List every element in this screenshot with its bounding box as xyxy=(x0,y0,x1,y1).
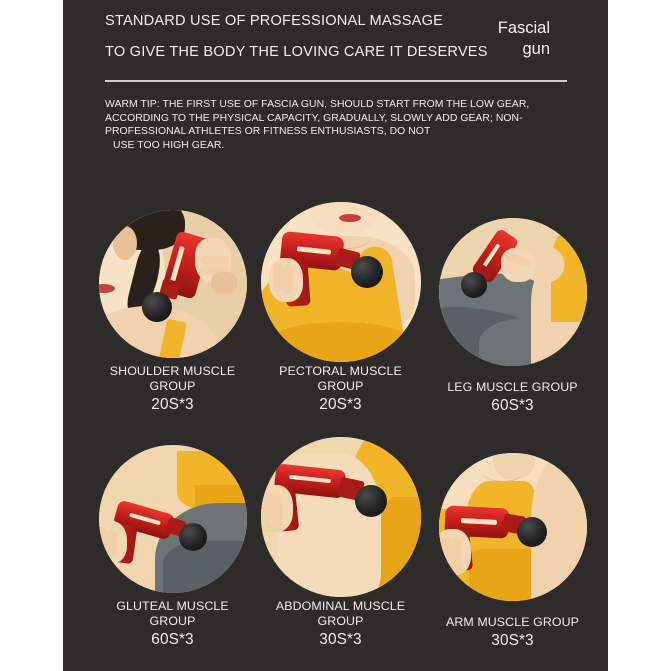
massage-gun-head-icon xyxy=(517,517,547,547)
brand-line-1: Fascial xyxy=(450,18,550,39)
muscle-group-tile-arm[interactable]: ARM MUSCLE GROUP 30S*3 xyxy=(425,431,600,651)
muscle-group-row-1: SHOULDER MUSCLE GROUP 20S*3 xyxy=(63,196,608,431)
header-divider xyxy=(105,80,567,82)
massage-gun-head-icon xyxy=(351,256,383,288)
caption-arm: ARM MUSCLE GROUP 30S*3 xyxy=(425,615,600,651)
muscle-group-tile-shoulder[interactable]: SHOULDER MUSCLE GROUP 20S*3 xyxy=(85,196,260,415)
muscle-group-name-line-2: GROUP xyxy=(85,379,260,394)
photo-pectoral-muscle xyxy=(261,202,421,362)
massage-gun-head-icon xyxy=(179,523,207,551)
muscle-group-duration: 20S*3 xyxy=(253,395,428,415)
muscle-group-name-line-1: GLUTEAL MUSCLE xyxy=(85,599,260,614)
photo-wrap-pectoral xyxy=(261,202,421,362)
warm-tip-text: WARM TIP: THE FIRST USE OF FASCIA GUN, S… xyxy=(105,98,560,152)
muscle-group-tile-pectoral[interactable]: PECTORAL MUSCLE GROUP 20S*3 xyxy=(253,196,428,415)
header: STANDARD USE OF PROFESSIONAL MASSAGE TO … xyxy=(63,0,608,80)
caption-abdominal: ABDOMINAL MUSCLE GROUP 30S*3 xyxy=(253,599,428,650)
photo-wrap-shoulder xyxy=(99,210,247,358)
caption-gluteal: GLUTEAL MUSCLE GROUP 60S*3 xyxy=(85,599,260,650)
massage-gun-head-icon xyxy=(461,272,487,298)
muscle-group-name-line-2: GROUP xyxy=(253,614,428,629)
warm-tip-line-3: PROFESSIONAL ATHLETES OR FITNESS ENTHUSI… xyxy=(105,125,560,139)
photo-wrap-abdominal xyxy=(261,437,421,597)
muscle-group-row-2: GLUTEAL MUSCLE GROUP 60S*3 xyxy=(63,431,608,666)
massage-gun-head-icon xyxy=(142,292,172,322)
photo-shoulder-muscle xyxy=(99,210,247,358)
headline-line-2: TO GIVE THE BODY THE LOVING CARE IT DESE… xyxy=(105,37,485,68)
caption-pectoral: PECTORAL MUSCLE GROUP 20S*3 xyxy=(253,364,428,415)
muscle-group-name-line-1: SHOULDER MUSCLE xyxy=(85,364,260,379)
muscle-group-grid: SHOULDER MUSCLE GROUP 20S*3 xyxy=(63,196,608,666)
caption-shoulder: SHOULDER MUSCLE GROUP 20S*3 xyxy=(85,364,260,415)
muscle-group-duration: 60S*3 xyxy=(425,396,600,416)
brand-name: Fascial gun xyxy=(450,18,550,60)
warm-tip-line-4: USE TOO HIGH GEAR. xyxy=(105,139,560,153)
photo-wrap-leg xyxy=(439,218,587,366)
muscle-group-duration: 60S*3 xyxy=(85,630,260,650)
dark-promo-panel: STANDARD USE OF PROFESSIONAL MASSAGE TO … xyxy=(63,0,608,671)
muscle-group-tile-leg[interactable]: LEG MUSCLE GROUP 60S*3 xyxy=(425,196,600,416)
photo-wrap-arm xyxy=(439,453,587,601)
muscle-group-name-line-1: ABDOMINAL MUSCLE xyxy=(253,599,428,614)
promo-image-root: STANDARD USE OF PROFESSIONAL MASSAGE TO … xyxy=(0,0,671,671)
photo-gluteal-muscle xyxy=(99,445,247,593)
caption-leg: LEG MUSCLE GROUP 60S*3 xyxy=(425,380,600,416)
headline-line-1: STANDARD USE OF PROFESSIONAL MASSAGE xyxy=(105,6,485,37)
muscle-group-tile-abdominal[interactable]: ABDOMINAL MUSCLE GROUP 30S*3 xyxy=(253,431,428,650)
page-title: STANDARD USE OF PROFESSIONAL MASSAGE TO … xyxy=(105,6,485,68)
muscle-group-name-line-2: GROUP xyxy=(253,379,428,394)
massage-gun-head-icon xyxy=(355,485,387,517)
muscle-group-name-line-2: GROUP xyxy=(85,614,260,629)
warm-tip-line-1: WARM TIP: THE FIRST USE OF FASCIA GUN, S… xyxy=(105,98,560,112)
muscle-group-tile-gluteal[interactable]: GLUTEAL MUSCLE GROUP 60S*3 xyxy=(85,431,260,650)
photo-leg-muscle xyxy=(439,218,587,366)
photo-wrap-gluteal xyxy=(99,445,247,593)
muscle-group-duration: 20S*3 xyxy=(85,395,260,415)
photo-arm-muscle xyxy=(439,453,587,601)
muscle-group-duration: 30S*3 xyxy=(425,631,600,651)
muscle-group-name-line-1: LEG MUSCLE GROUP xyxy=(425,380,600,395)
muscle-group-name-line-1: ARM MUSCLE GROUP xyxy=(425,615,600,630)
warm-tip-line-2: ACCORDING TO THE PHYSICAL CAPACITY, GRAD… xyxy=(105,112,560,126)
muscle-group-name-line-1: PECTORAL MUSCLE xyxy=(253,364,428,379)
photo-abdominal-muscle xyxy=(261,437,421,597)
muscle-group-duration: 30S*3 xyxy=(253,630,428,650)
brand-line-2: gun xyxy=(450,39,550,60)
